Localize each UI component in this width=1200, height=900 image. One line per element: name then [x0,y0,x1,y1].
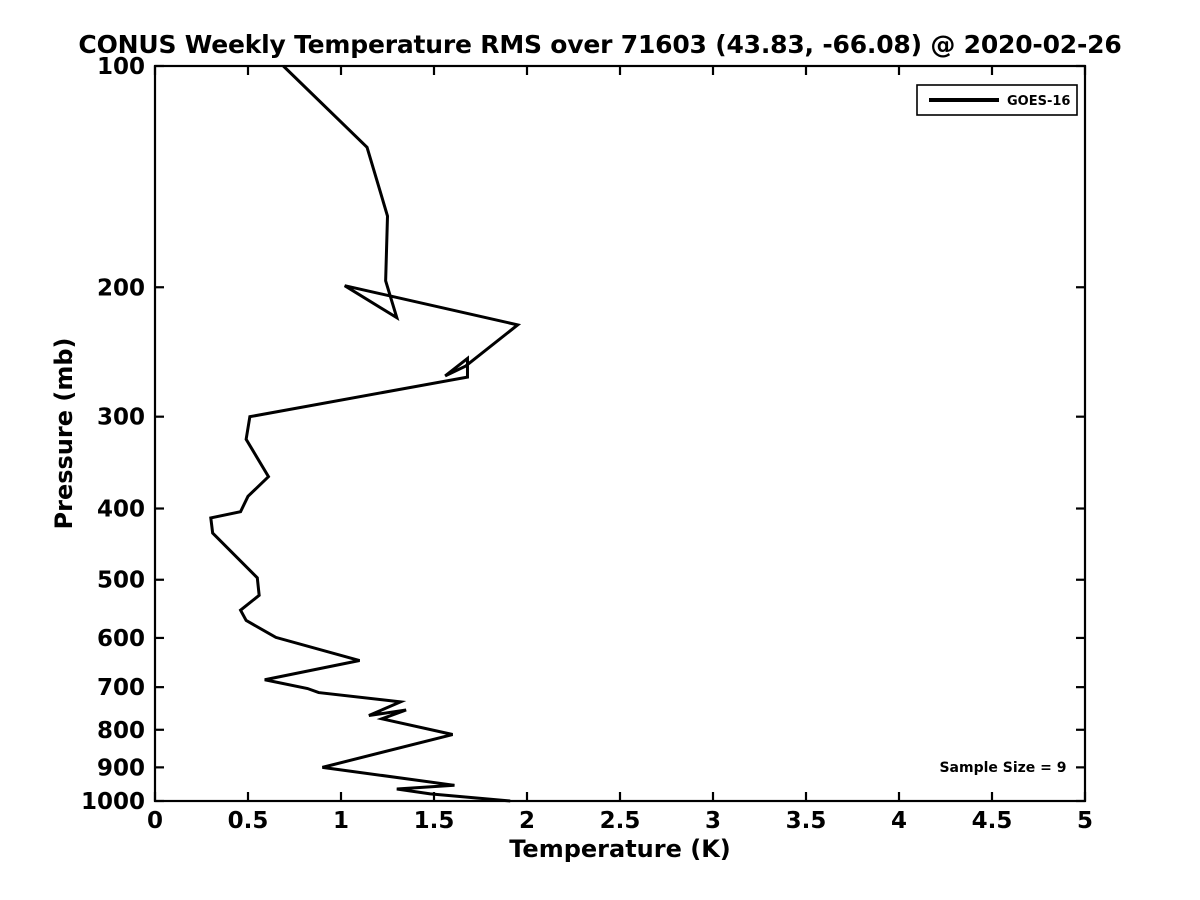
x-axis-tick-label: 4.5 [972,808,1013,834]
chart-container: CONUS Weekly Temperature RMS over 71603 … [0,0,1200,900]
y-axis-tick-label: 500 [97,568,145,594]
x-axis-tick-label: 0 [147,808,163,834]
x-axis-tick-label: 1.5 [414,808,455,834]
x-axis-tick-label: 2 [519,808,535,834]
x-axis-title: Temperature (K) [509,835,731,863]
y-axis-tick-label: 900 [97,755,145,781]
y-axis-tick-label: 700 [97,675,145,701]
x-axis-tick-label: 3.5 [786,808,827,834]
sample-size-annotation: Sample Size = 9 [939,760,1066,776]
y-axis-tick-label: 600 [97,626,145,652]
x-axis-tick-label: 4 [891,808,907,834]
x-axis-tick-label: 1 [333,808,349,834]
axis-frame [155,66,1085,801]
y-axis-tick-label: 100 [97,54,145,80]
x-axis-tick-label: 3 [705,808,721,834]
y-axis-title: Pressure (mb) [50,338,78,530]
data-series-line-0 [211,66,518,801]
chart-plot-area: 00.511.522.533.544.551002003004005006007… [0,0,1200,900]
y-axis-tick-label: 400 [97,497,145,523]
y-axis-tick-label: 200 [97,275,145,301]
y-axis-tick-label: 300 [97,405,145,431]
y-axis-tick-label: 800 [97,718,145,744]
legend-label-0: GOES-16 [1007,94,1070,109]
y-axis-tick-label: 1000 [81,789,145,815]
x-axis-tick-label: 0.5 [228,808,269,834]
x-axis-tick-label: 2.5 [600,808,641,834]
x-axis-tick-label: 5 [1077,808,1093,834]
